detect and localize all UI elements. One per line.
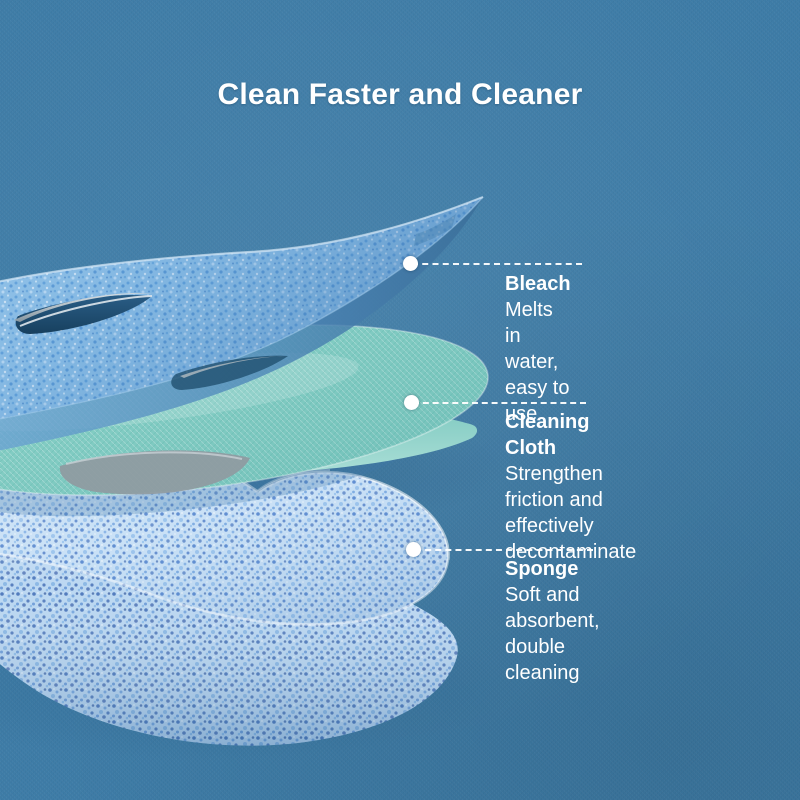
callout-desc-bleach-1: Melts in water, easy to use [505,297,571,427]
callout-leader-line-sponge [415,549,593,551]
callout-leader-line-bleach [412,263,582,265]
callout-heading-bleach: Bleach [505,271,571,297]
callout-text-sponge: Sponge Soft and absorbent, double cleani… [505,556,600,686]
page-title: Clean Faster and Cleaner [0,78,800,112]
infographic-canvas: Clean Faster and Cleaner Bleach Melts in… [0,0,800,800]
callout-leader-line-cleaning-cloth [413,402,586,404]
callout-desc-sponge-1: Soft and absorbent, [505,582,600,634]
callout-heading-sponge: Sponge [505,556,600,582]
callout-desc-cleaning-cloth-1: Strengthen friction and [505,461,636,513]
callout-desc-sponge-2: double cleaning [505,634,600,686]
callout-text-cleaning-cloth: Cleaning Cloth Strengthen friction and e… [505,409,636,565]
product-exploded-illustration [0,0,800,800]
callout-heading-cleaning-cloth: Cleaning Cloth [505,409,636,461]
